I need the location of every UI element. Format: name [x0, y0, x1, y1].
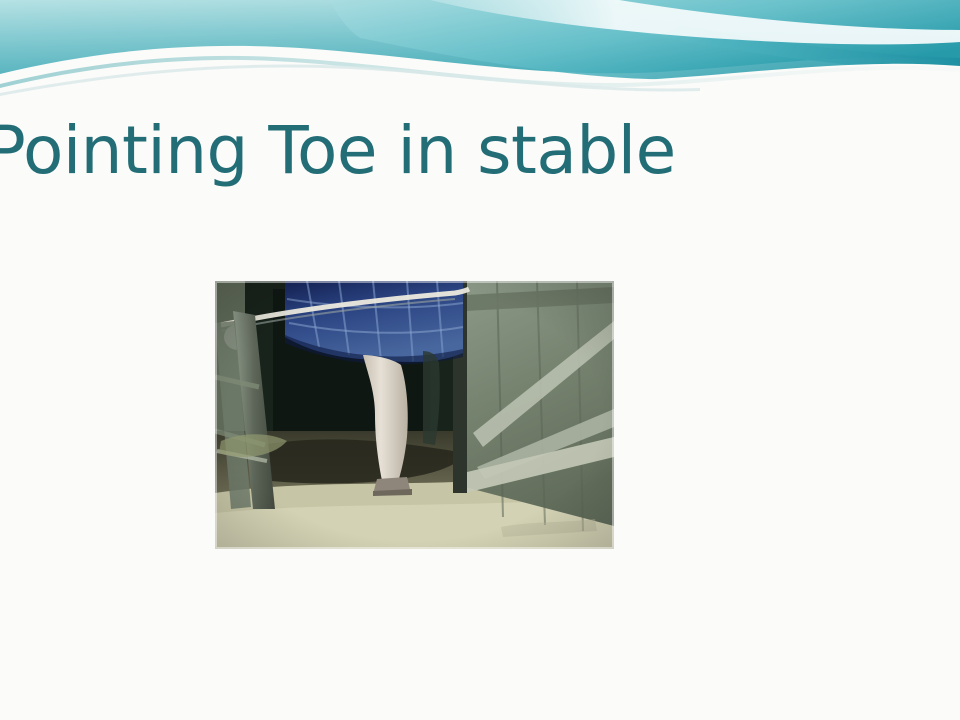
- slide: Pointing Toe in stable: [0, 0, 960, 720]
- header-wave-band: [0, 0, 960, 100]
- wave-dark-ribbon: [548, 4, 960, 72]
- wave-secondary-line: [0, 64, 700, 96]
- wave-teal-right: [330, 0, 960, 79]
- wave-teal-field: [0, 0, 960, 74]
- photo-vignette: [215, 281, 614, 549]
- wave-white-arc-upper: [430, 0, 960, 44]
- wave-thin-accent-line: [0, 56, 960, 88]
- wave-white-swoosh: [0, 54, 960, 100]
- slide-title: Pointing Toe in stable: [0, 108, 886, 194]
- slide-photo: [215, 281, 614, 549]
